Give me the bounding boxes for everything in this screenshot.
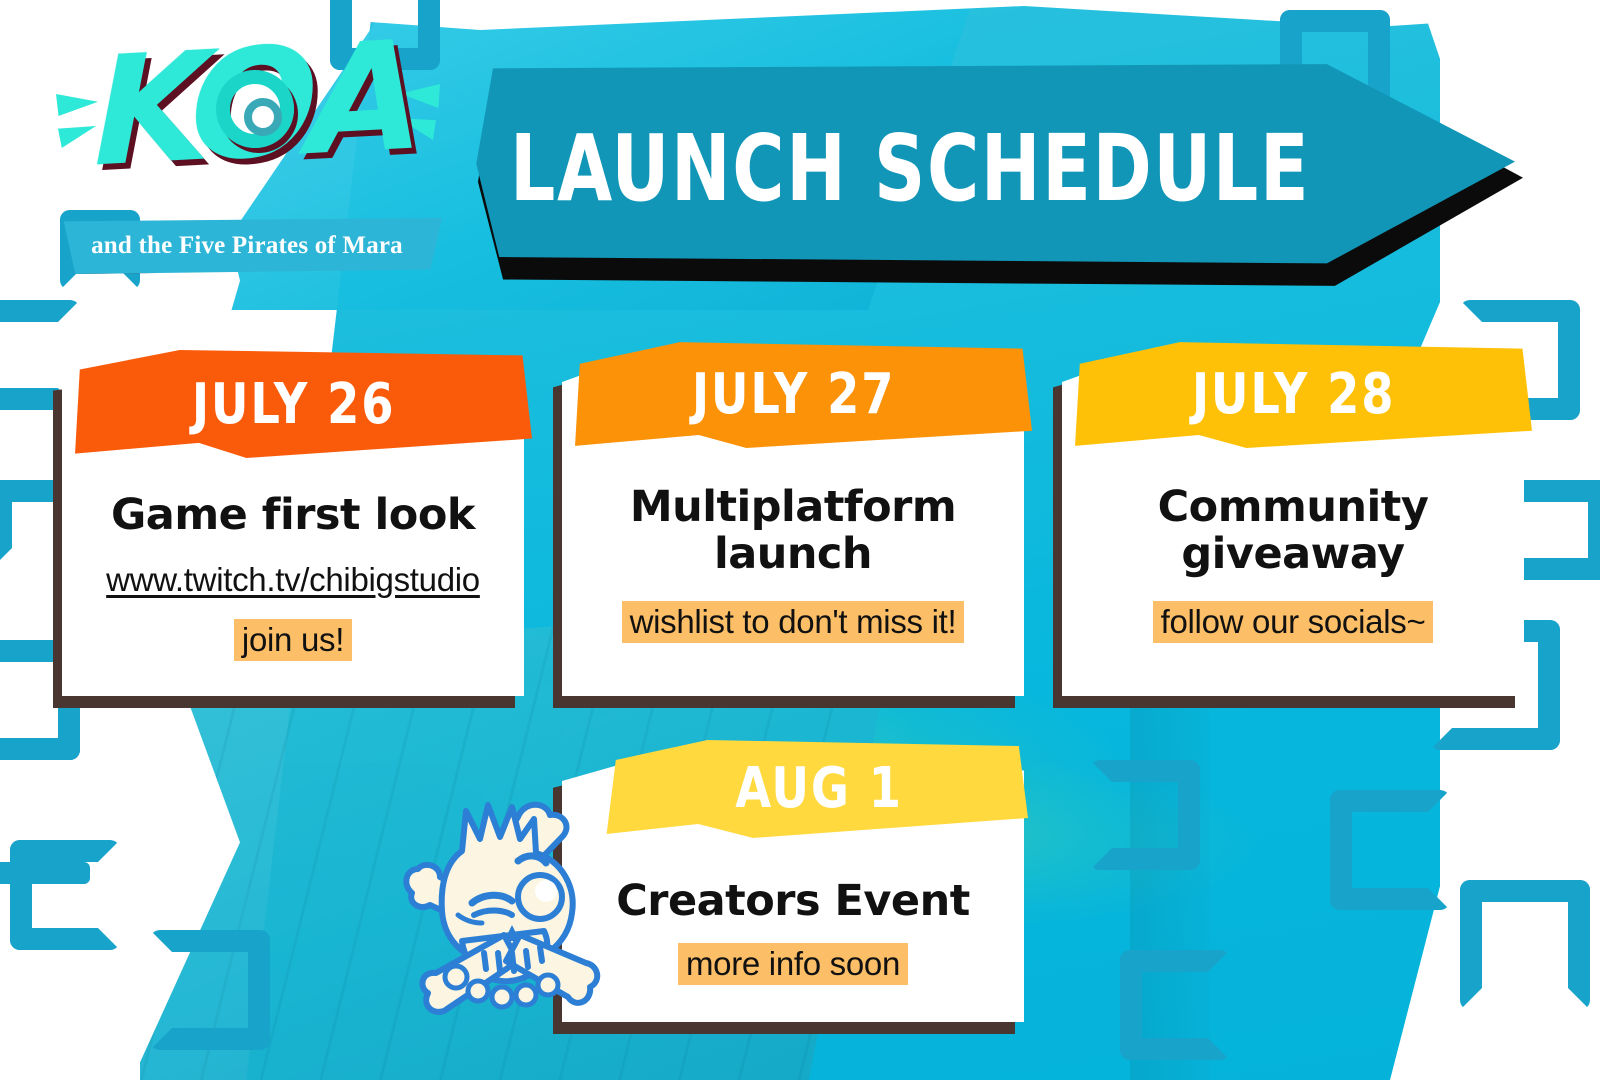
card-title: Community giveaway: [1128, 484, 1458, 579]
date-label: JULY 26: [192, 372, 395, 437]
logo-subtitle-ribbon: and the Five Pirates of Mara: [52, 218, 442, 274]
date-banner-july-26: JULY 26: [56, 350, 532, 458]
schedule-card-aug-1[interactable]: Creators Event more info soon AUG 1: [562, 760, 1024, 1022]
logo-subtitle: and the Five Pirates of Mara: [52, 218, 442, 274]
spiral-ornament: [1460, 880, 1590, 1010]
card-link[interactable]: www.twitch.tv/chibigstudio: [106, 561, 480, 599]
launch-schedule-banner: LAUNCH SCHEDULE: [470, 62, 1515, 274]
card-title: Multiplatform launch: [613, 484, 973, 579]
spiral-ornament: [150, 930, 270, 1050]
logo-spark-icon: [56, 94, 98, 116]
spiral-ornament: [1330, 790, 1450, 910]
page-title: LAUNCH SCHEDULE: [510, 115, 1310, 222]
schedule-card-july-26[interactable]: Game first look www.twitch.tv/chibigstud…: [62, 372, 524, 696]
ornament-bar: [0, 862, 90, 884]
logo-spiral-icon: [216, 70, 294, 148]
date-label: JULY 28: [1192, 362, 1395, 427]
date-banner-july-28: JULY 28: [1056, 340, 1532, 448]
skull-and-crossbones-icon: [400, 765, 620, 1015]
card-chip: join us!: [234, 619, 352, 661]
date-label: AUG 1: [735, 756, 903, 821]
card-title: Game first look: [111, 492, 475, 539]
spiral-ornament: [1090, 760, 1200, 870]
schedule-card-july-27[interactable]: Multiplatform launch wishlist to don't m…: [562, 362, 1024, 696]
card-chip: wishlist to don't miss it!: [622, 601, 965, 643]
date-label: JULY 27: [692, 362, 895, 427]
card-chip: follow our socials~: [1153, 601, 1434, 643]
spiral-ornament: [10, 840, 120, 950]
card-chip: more info soon: [678, 943, 908, 985]
brand-logo: KOA and the Five Pirates of Mara: [48, 22, 468, 284]
logo-spark-icon: [58, 126, 96, 148]
card-title: Creators Event: [616, 878, 970, 925]
spiral-ornament: [1120, 950, 1230, 1060]
banner-body: LAUNCH SCHEDULE: [470, 62, 1515, 274]
schedule-card-july-28[interactable]: Community giveaway follow our socials~ J…: [1062, 362, 1524, 696]
date-banner-july-27: JULY 27: [556, 340, 1032, 448]
